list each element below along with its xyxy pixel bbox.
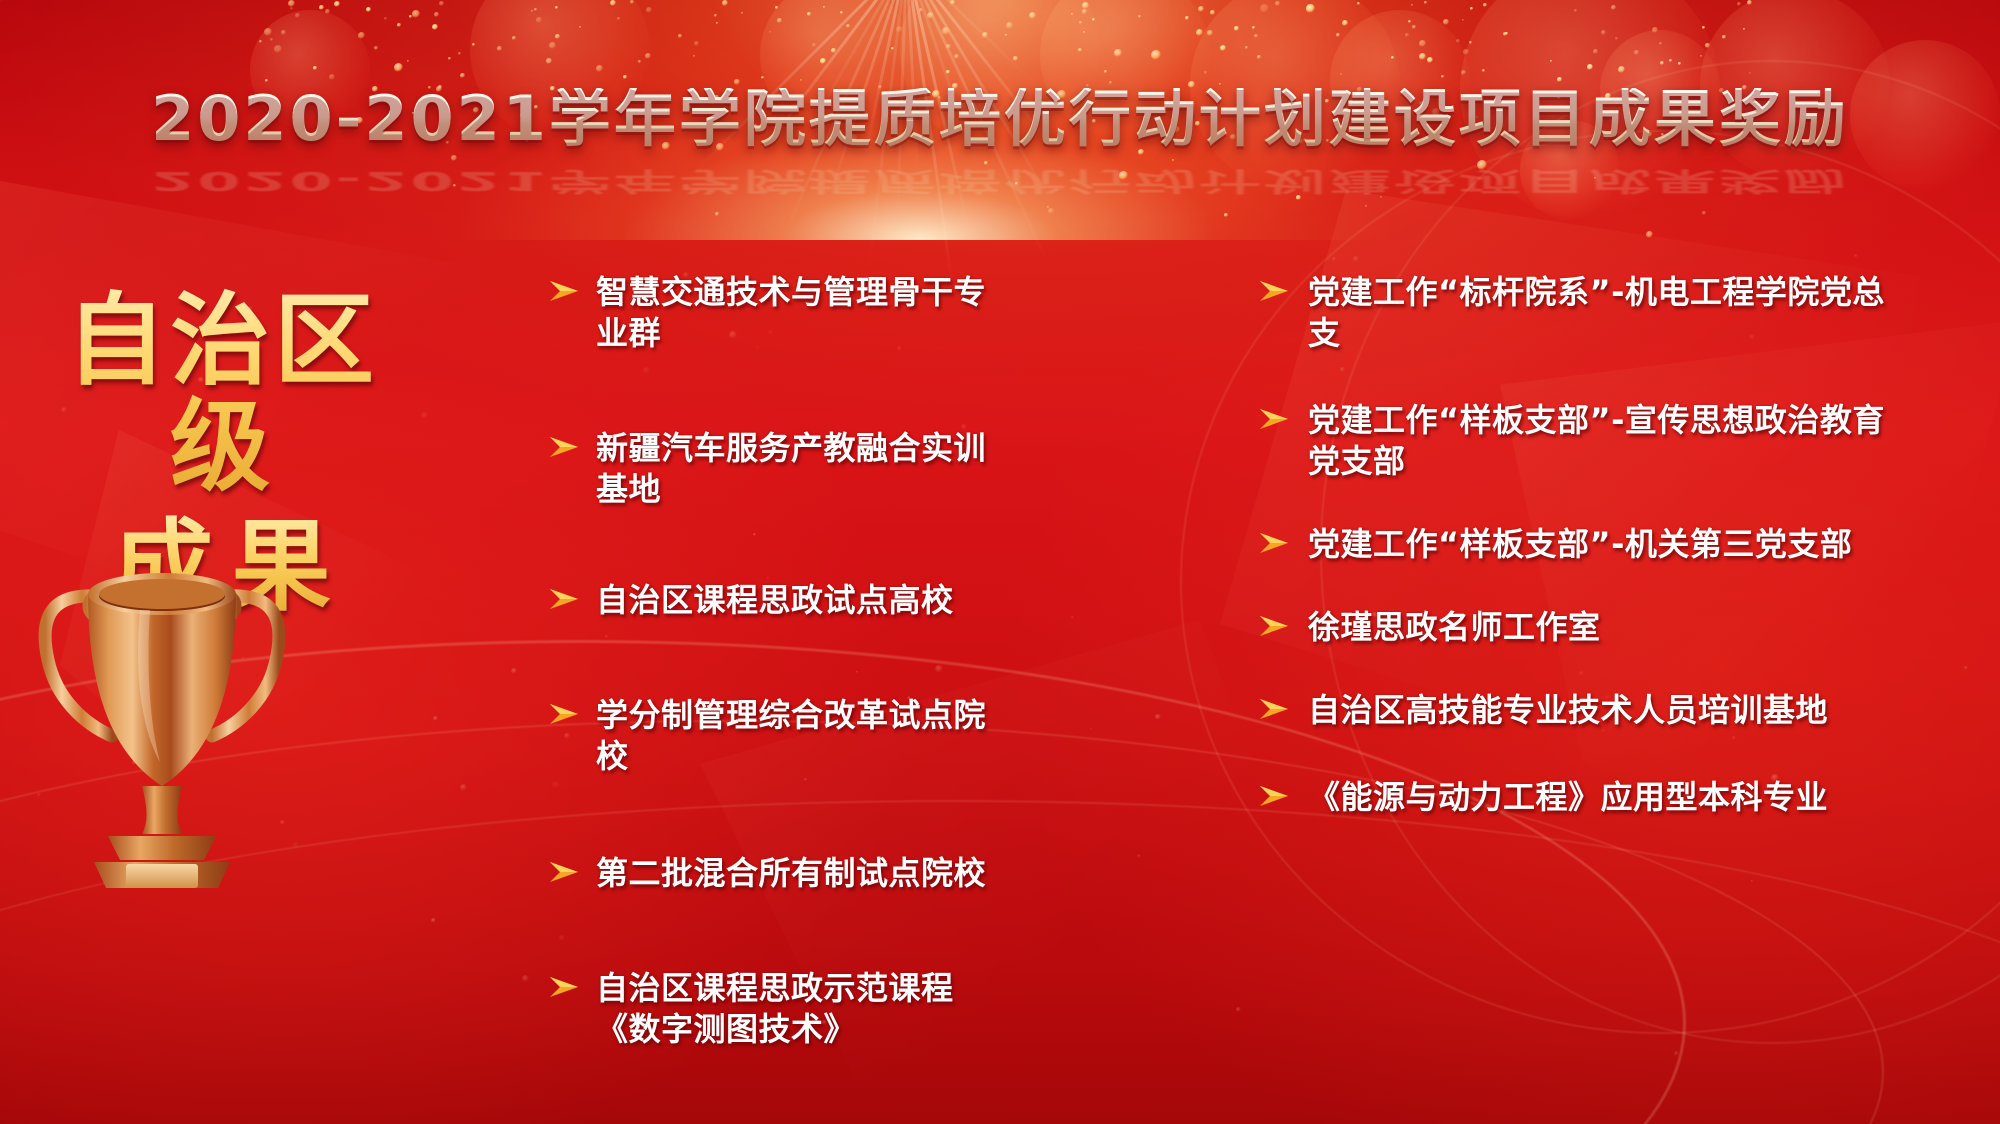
sparkle-dot [716,22,718,24]
list-item[interactable]: 《能源与动力工程》应用型本科专业 [1258,777,1898,818]
list-item-label: 徐瑾思政名师工作室 [1308,607,1898,648]
sparkle-dot [678,34,682,38]
list-item-label: 新疆汽车服务产教融合实训基地 [596,428,1018,510]
list-item[interactable]: 自治区课程思政示范课程《数字测图技术》 [548,968,1018,1050]
list-item[interactable]: 徐瑾思政名师工作室 [1258,607,1898,648]
page-title-text: 2020-2021学年学院提质培优行动计划建设项目成果奖励 [151,88,1849,150]
sparkle-dot [460,784,467,791]
left-bullet-column: 智慧交通技术与管理骨干专业群 新疆汽车服务产教融合实训基地 自治区课程思政试点高… [548,272,1018,1050]
sparkle-dot [1015,182,1018,185]
sparkle-dot [433,716,438,721]
sparkle-dot [1470,7,1473,10]
arrow-bullet-icon [548,974,582,1000]
sparkle-dot [1198,6,1204,12]
arrow-bullet-icon [1258,278,1292,304]
arrow-bullet-icon [1258,406,1292,432]
sparkle-dot [451,155,457,161]
list-item-label: 第二批混合所有制试点院校 [596,853,1018,894]
list-item[interactable]: 党建工作“样板支部”-宣传思想政治教育党支部 [1258,400,1898,482]
list-item[interactable]: 自治区高技能专业技术人员培训基地 [1258,690,1898,731]
list-item[interactable]: 学分制管理综合改革试点院校 [548,695,1018,777]
trophy-icon [22,548,302,888]
award-poster: 2020-2021学年学院提质培优行动计划建设项目成果奖励 2020-2021学… [0,0,2000,1124]
list-item-label: 党建工作“样板支部”-宣传思想政治教育党支部 [1308,400,1898,482]
sparkle-dot [1155,714,1161,720]
sparkle-dot [511,668,517,674]
sparkle-dot [409,15,412,18]
sparkle-dot [1483,3,1487,7]
arrow-bullet-icon [1258,530,1292,556]
category-badge-line-1: 自治区级 [22,288,422,500]
list-item-label: 学分制管理综合改革试点院校 [596,695,1018,777]
list-item-label: 党建工作“样板支部”-机关第三党支部 [1308,524,1898,565]
sparkle-dot [1048,208,1054,214]
arrow-bullet-icon [548,434,582,460]
arrow-bullet-icon [1258,783,1292,809]
list-item[interactable]: 党建工作“标杆院系”-机电工程学院党总支 [1258,272,1898,354]
sparkle-dot [458,52,461,55]
list-item[interactable]: 第二批混合所有制试点院校 [548,853,1018,894]
sparkle-dot [460,73,465,78]
sparkle-dot [397,23,401,27]
list-item[interactable]: 新疆汽车服务产教融合实训基地 [548,428,1018,510]
list-item-label: 党建工作“标杆院系”-机电工程学院党总支 [1308,272,1898,354]
sparkle-dot [432,24,438,30]
sparkle-dot [1424,1,1427,4]
arrow-bullet-icon [548,701,582,727]
list-item[interactable]: 党建工作“样板支部”-机关第三党支部 [1258,524,1898,565]
list-item-label: 自治区高技能专业技术人员培训基地 [1308,690,1898,731]
list-item-label: 智慧交通技术与管理骨干专业群 [596,272,1018,354]
sparkle-dot [319,5,324,10]
sparkle-dot [522,975,529,982]
sparkle-dot [288,0,295,7]
sparkle-dot [374,46,378,50]
list-item[interactable]: 智慧交通技术与管理骨干专业群 [548,272,1018,354]
arrow-bullet-icon [548,278,582,304]
list-item-label: 《能源与动力工程》应用型本科专业 [1308,777,1898,818]
list-item[interactable]: 自治区课程思政试点高校 [548,580,1018,621]
arrow-bullet-icon [548,586,582,612]
sparkle-dot [1964,666,1968,670]
arrow-bullet-icon [1258,696,1292,722]
list-item-label: 自治区课程思政试点高校 [596,580,1018,621]
sparkle-dot [1443,19,1449,25]
sparkle-dot [431,918,436,923]
sparkle-dot [715,212,719,216]
sparkle-dot [1702,211,1706,215]
right-bullet-column: 党建工作“标杆院系”-机电工程学院党总支 党建工作“样板支部”-宣传思想政治教育… [1258,272,1898,818]
sparkle-dot [434,12,439,17]
sparkle-dot [646,7,652,13]
sparkle-dot [1210,10,1215,15]
arrow-bullet-icon [548,859,582,885]
sparkle-dot [394,63,403,72]
sparkle-dot [448,57,451,60]
sparkle-dot [1353,256,1359,262]
sparkle-dot [1751,880,1753,882]
sparkle-dot [714,14,717,17]
sparkle-dot [1119,171,1128,180]
page-title: 2020-2021学年学院提质培优行动计划建设项目成果奖励 [0,88,2000,150]
sparkle-dot [1296,195,1301,200]
list-item-label: 自治区课程思政示范课程《数字测图技术》 [596,968,1018,1050]
sparkle-dot [1224,213,1228,217]
arrow-bullet-icon [1258,613,1292,639]
